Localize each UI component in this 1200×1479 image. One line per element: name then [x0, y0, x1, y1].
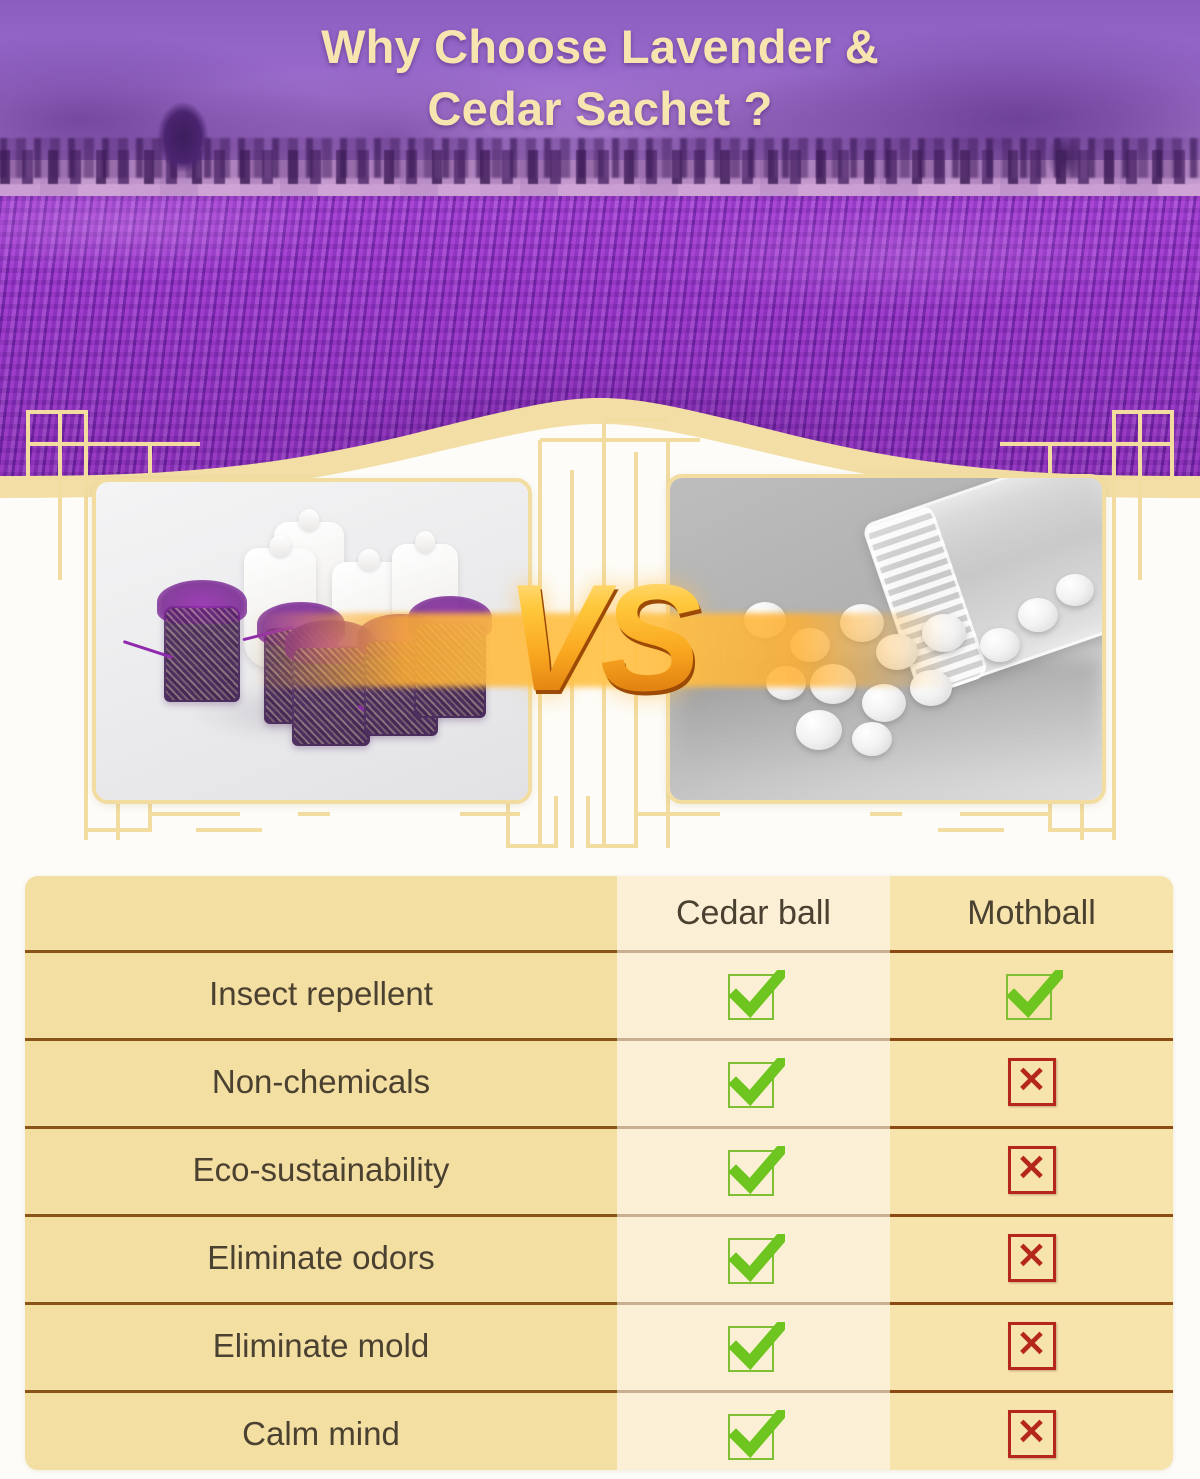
- cell-cedar-insect-repellent: [617, 950, 890, 1038]
- mothball: [862, 684, 906, 722]
- cell-moth-eliminate-mold: ✕: [890, 1302, 1173, 1390]
- mothball: [796, 710, 842, 750]
- cell-cedar-eco-sustainability: [617, 1126, 890, 1214]
- table-row: Non-chemicals: [25, 1038, 617, 1126]
- cross-icon: ✕: [1008, 1234, 1056, 1282]
- table-row: Eco-sustainability: [25, 1126, 617, 1214]
- check-icon: [726, 1230, 782, 1286]
- table-row: Eliminate odors: [25, 1214, 617, 1302]
- cell-cedar-eliminate-mold: [617, 1302, 890, 1390]
- cross-icon: ✕: [1008, 1322, 1056, 1370]
- vs-badge: VS: [470, 545, 730, 755]
- cell-cedar-calm-mind: [617, 1390, 890, 1470]
- cross-icon: ✕: [1008, 1058, 1056, 1106]
- column-header-cedar-ball: Cedar ball: [617, 876, 890, 950]
- comparison-table: Cedar ball Mothball Insect repellent Non…: [25, 876, 1173, 1470]
- check-icon: [726, 1318, 782, 1374]
- lavender-bag: [164, 606, 240, 702]
- cell-moth-non-chemicals: ✕: [890, 1038, 1173, 1126]
- check-icon: [726, 966, 782, 1022]
- page-title-line1: Why Choose Lavender &: [0, 16, 1200, 78]
- table-row: Eliminate mold: [25, 1302, 617, 1390]
- table-row: Calm mind: [25, 1390, 617, 1470]
- cross-icon: ✕: [1008, 1410, 1056, 1458]
- mothball: [980, 628, 1020, 662]
- cell-cedar-eliminate-odors: [617, 1214, 890, 1302]
- page-title-line2: Cedar Sachet ?: [0, 78, 1200, 140]
- check-icon: [726, 1142, 782, 1198]
- cell-cedar-non-chemicals: [617, 1038, 890, 1126]
- mothball: [1018, 598, 1058, 632]
- cross-icon: ✕: [1008, 1146, 1056, 1194]
- vs-label: VS: [470, 553, 730, 723]
- check-icon: [1004, 966, 1060, 1022]
- page-title: Why Choose Lavender & Cedar Sachet ?: [0, 16, 1200, 140]
- mothball: [1056, 574, 1094, 606]
- check-icon: [726, 1054, 782, 1110]
- table-row: Insect repellent: [25, 950, 617, 1038]
- cell-moth-eco-sustainability: ✕: [890, 1126, 1173, 1214]
- check-icon: [726, 1406, 782, 1462]
- cell-moth-insect-repellent: [890, 950, 1173, 1038]
- column-header-mothball: Mothball: [890, 876, 1173, 950]
- cell-moth-calm-mind: ✕: [890, 1390, 1173, 1470]
- mothball: [852, 722, 892, 756]
- cell-moth-eliminate-odors: ✕: [890, 1214, 1173, 1302]
